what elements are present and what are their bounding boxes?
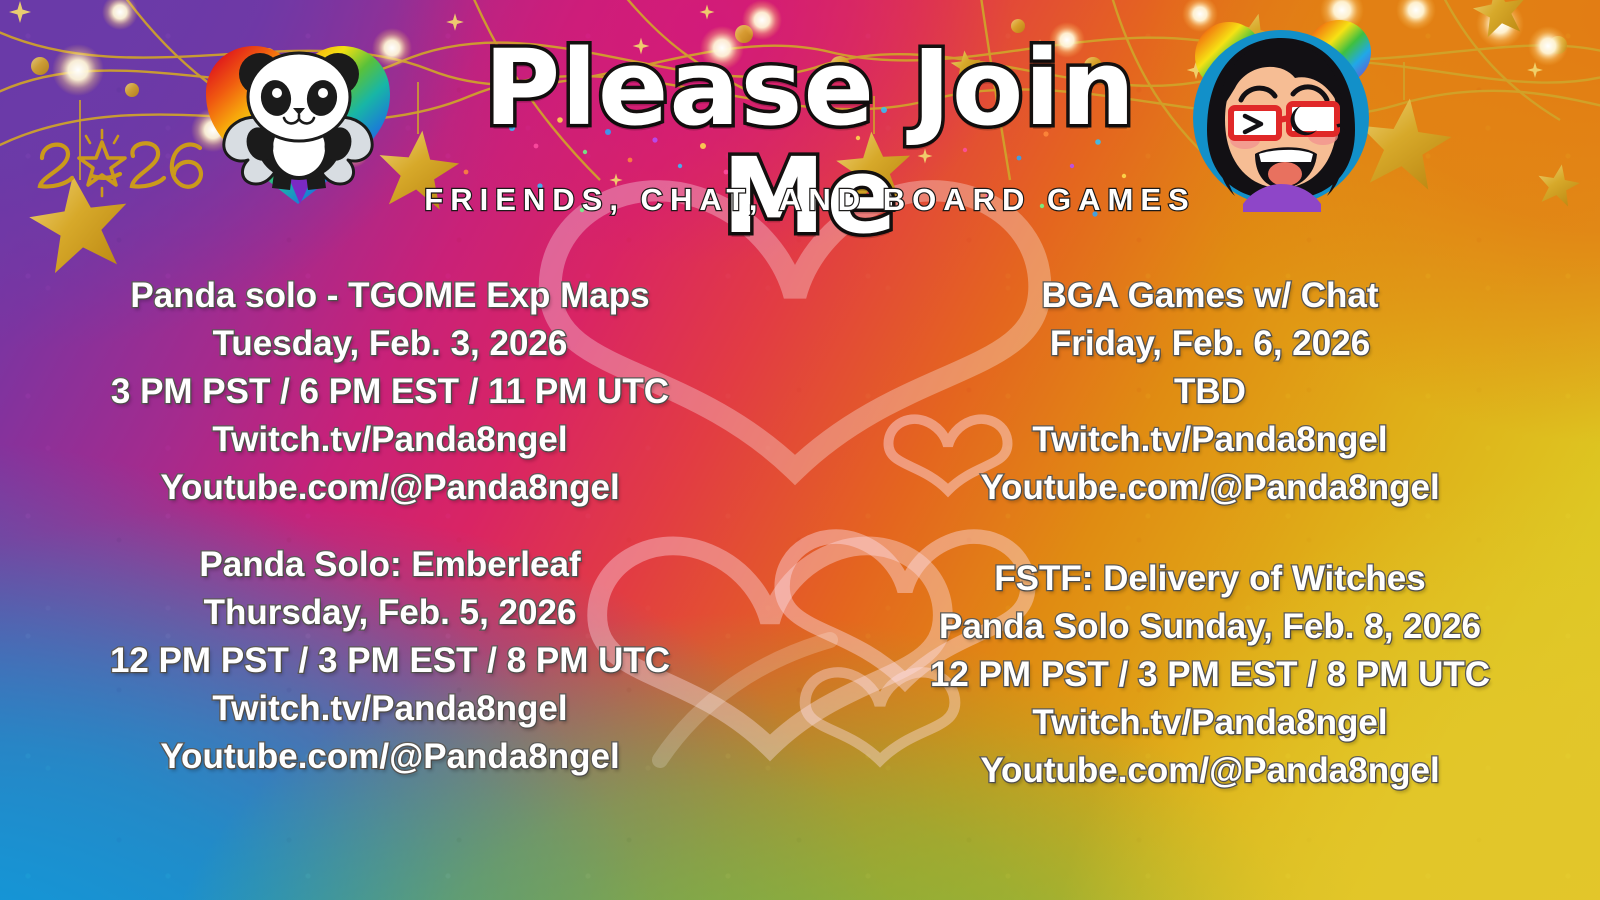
schedule-line-date: Tuesday, Feb. 3, 2026 (40, 320, 740, 368)
schedule-line-twitch[interactable]: Twitch.tv/Panda8ngel (880, 416, 1540, 464)
schedule-line-twitch[interactable]: Twitch.tv/Panda8ngel (860, 699, 1560, 747)
schedule-block-panda-solo-emberleaf: Panda Solo: Emberleaf Thursday, Feb. 5, … (40, 541, 740, 781)
rainbow-heart-panda-logo (196, 18, 401, 218)
year-2026-decoration (28, 124, 218, 204)
stream-schedule-graphic: Please Join Me FRIENDS, CHAT, AND BOARD … (0, 0, 1600, 900)
schedule-line-times: TBD (880, 368, 1540, 416)
schedule-block-panda-solo-tgome: Panda solo - TGOME Exp Maps Tuesday, Feb… (40, 272, 740, 512)
schedule-line-times: 12 PM PST / 3 PM EST / 8 PM UTC (40, 637, 740, 685)
schedule-line-youtube[interactable]: Youtube.com/@Panda8ngel (40, 733, 740, 781)
schedule-block-fstf-delivery-of-witches: FSTF: Delivery of Witches Panda Solo Sun… (860, 555, 1560, 795)
schedule-block-bga-games-with-chat: BGA Games w/ Chat Friday, Feb. 6, 2026 T… (880, 272, 1540, 512)
schedule-line-times: 3 PM PST / 6 PM EST / 11 PM UTC (40, 368, 740, 416)
schedule-line-title: Panda Solo: Emberleaf (40, 541, 740, 589)
schedule-line-title: Panda solo - TGOME Exp Maps (40, 272, 740, 320)
schedule-line-times: 12 PM PST / 3 PM EST / 8 PM UTC (860, 651, 1560, 699)
schedule-line-title: FSTF: Delivery of Witches (860, 555, 1560, 603)
schedule-line-youtube[interactable]: Youtube.com/@Panda8ngel (880, 464, 1540, 512)
page-subtitle: FRIENDS, CHAT, AND BOARD GAMES (380, 182, 1240, 218)
schedule-line-date: Thursday, Feb. 5, 2026 (40, 589, 740, 637)
schedule-line-youtube[interactable]: Youtube.com/@Panda8ngel (860, 747, 1560, 795)
schedule-line-twitch[interactable]: Twitch.tv/Panda8ngel (40, 685, 740, 733)
schedule-line-title: BGA Games w/ Chat (880, 272, 1540, 320)
schedule-line-youtube[interactable]: Youtube.com/@Panda8ngel (40, 464, 740, 512)
schedule-line-twitch[interactable]: Twitch.tv/Panda8ngel (40, 416, 740, 464)
schedule-line-date: Friday, Feb. 6, 2026 (880, 320, 1540, 368)
schedule-line-date: Panda Solo Sunday, Feb. 8, 2026 (860, 603, 1560, 651)
